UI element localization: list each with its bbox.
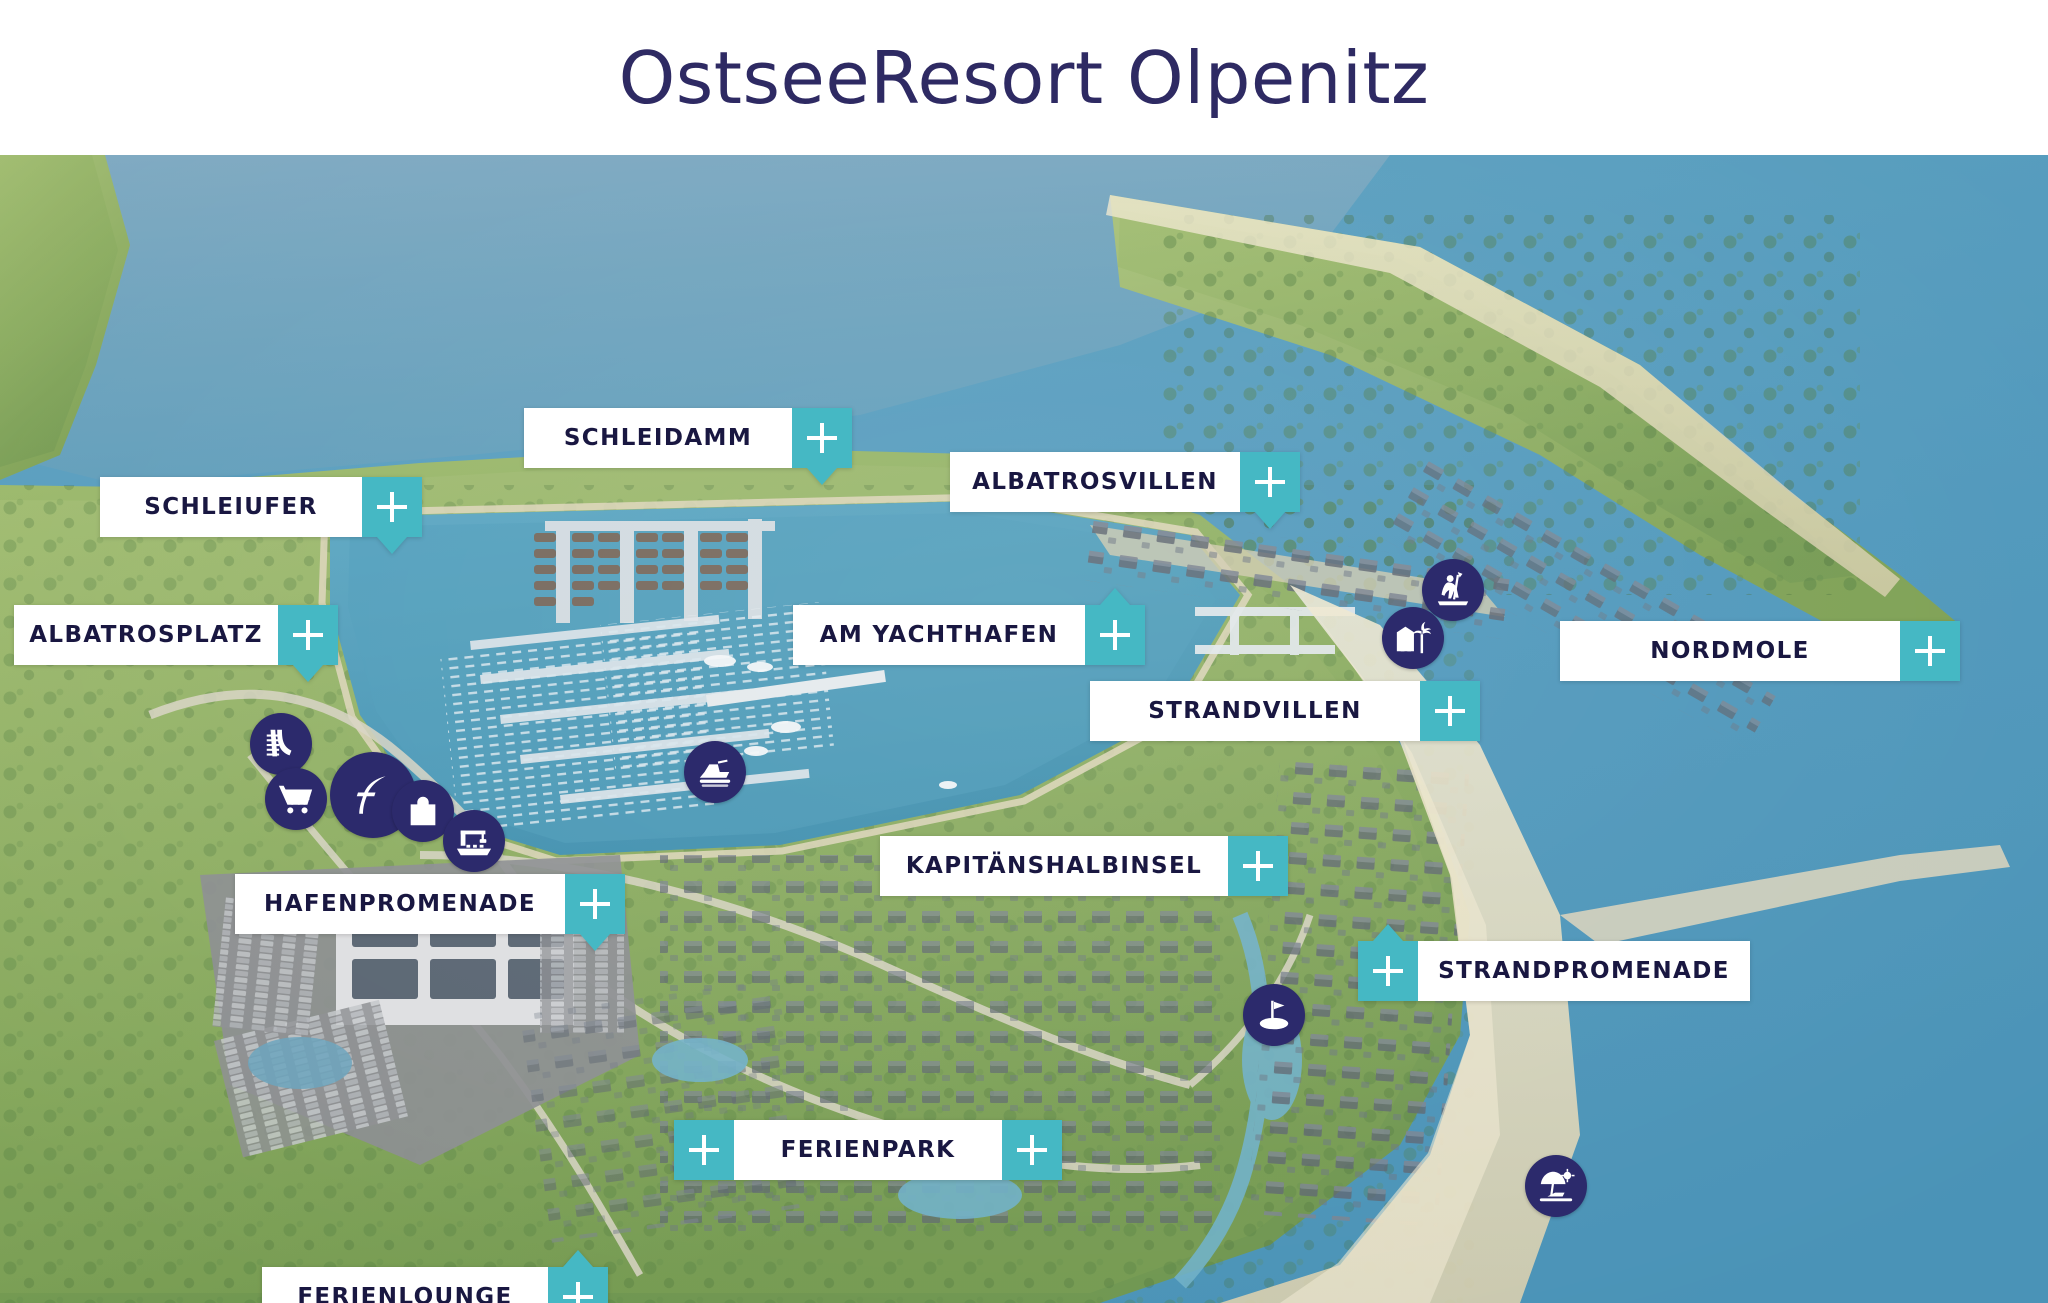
plus-icon	[293, 620, 323, 650]
plus-icon	[1255, 467, 1285, 497]
water-slide-icon	[262, 725, 300, 763]
map-label-plus-button[interactable]	[1240, 452, 1300, 512]
map-label-box: STRANDPROMENADE	[1418, 941, 1750, 1001]
title-bar: OstseeResort Olpenitz	[0, 0, 2048, 155]
map-label-plus-button[interactable]	[565, 874, 625, 934]
poi-marker-motorboat[interactable]	[684, 741, 746, 803]
map-label-albatrosvillen[interactable]: ALBATROSVILLEN	[950, 452, 1300, 512]
map-label-plus-button[interactable]	[1420, 681, 1480, 741]
poi-marker-harbour[interactable]	[443, 810, 505, 872]
map-label-schleidamm[interactable]: SCHLEIDAMM	[524, 408, 852, 468]
map-label-text: STRANDPROMENADE	[1438, 958, 1730, 984]
shopping-cart-icon	[277, 780, 315, 818]
map-label-text: HAFENPROMENADE	[264, 891, 536, 917]
map-label-text: FERIENLOUNGE	[297, 1284, 512, 1303]
map-label-schleiufer[interactable]: SCHLEIUFER	[100, 477, 422, 537]
map-label-text: ALBATROSPLATZ	[29, 622, 263, 648]
map-label-box: FERIENLOUNGE	[262, 1267, 548, 1303]
map-label-box: HAFENPROMENADE	[235, 874, 565, 934]
map-label-plus-button[interactable]	[362, 477, 422, 537]
map-label-box: ALBATROSVILLEN	[950, 452, 1240, 512]
plus-icon	[1373, 956, 1403, 986]
map-label-plus-button[interactable]	[1900, 621, 1960, 681]
plus-icon	[689, 1135, 719, 1165]
poi-marker-shopping-cart[interactable]	[265, 768, 327, 830]
map-label-plus-button[interactable]	[1085, 605, 1145, 665]
plus-icon	[1100, 620, 1130, 650]
shopping-bag-icon	[404, 792, 442, 830]
harbour-crane-icon	[455, 822, 493, 860]
page-root: OstseeResort Olpenitz	[0, 0, 2048, 1303]
poi-marker-golf[interactable]	[1243, 984, 1305, 1046]
map-label-plus-button[interactable]	[792, 408, 852, 468]
map-label-text: KAPITÄNSHALBINSEL	[906, 853, 1202, 879]
plus-icon	[377, 492, 407, 522]
beach-umbrella-icon	[1537, 1167, 1575, 1205]
map-label-text: SCHLEIDAMM	[564, 425, 752, 451]
map-label-text: NORDMOLE	[1650, 638, 1810, 664]
map-label-text: SCHLEIUFER	[144, 494, 317, 520]
map-label-plus-button-left[interactable]	[674, 1120, 734, 1180]
resort-building-icon	[1394, 619, 1432, 657]
map-label-plus-button[interactable]	[1228, 836, 1288, 896]
map-label-ferienpark[interactable]: FERIENPARK	[674, 1120, 1062, 1180]
map-label-box: ALBATROSPLATZ	[14, 605, 278, 665]
map-label-plus-button-right[interactable]	[1002, 1120, 1062, 1180]
resort-map[interactable]: SCHLEIDAMM SCHLEIUFER ALBATROSVILLEN	[0, 155, 2048, 1303]
map-label-kapitaenshalbinsel[interactable]: KAPITÄNSHALBINSEL	[880, 836, 1288, 896]
map-label-box: KAPITÄNSHALBINSEL	[880, 836, 1228, 896]
plus-icon	[1435, 696, 1465, 726]
map-label-plus-button[interactable]	[548, 1267, 608, 1303]
poi-marker-water-slide[interactable]	[250, 713, 312, 775]
poi-marker-beach[interactable]	[1525, 1155, 1587, 1217]
map-label-box: FERIENPARK	[734, 1120, 1002, 1180]
paddleboard-icon	[1434, 571, 1472, 609]
plus-icon	[580, 889, 610, 919]
plus-icon	[1017, 1135, 1047, 1165]
plus-icon	[1915, 636, 1945, 666]
poi-marker-resort-building[interactable]	[1382, 607, 1444, 669]
poi-marker-paddleboard[interactable]	[1422, 559, 1484, 621]
map-label-strandvillen[interactable]: STRANDVILLEN	[1090, 681, 1480, 741]
map-label-text: FERIENPARK	[781, 1137, 956, 1163]
map-label-ferienlounge[interactable]: FERIENLOUNGE	[262, 1267, 608, 1303]
plus-icon	[1243, 851, 1273, 881]
map-label-text: AM YACHTHAFEN	[820, 622, 1059, 648]
map-label-box: NORDMOLE	[1560, 621, 1900, 681]
map-label-nordmole[interactable]: NORDMOLE	[1560, 621, 1960, 681]
plus-icon	[563, 1282, 593, 1303]
map-label-plus-button[interactable]	[1358, 941, 1418, 1001]
map-label-hafenpromenade[interactable]: HAFENPROMENADE	[235, 874, 625, 934]
map-label-text: ALBATROSVILLEN	[972, 469, 1218, 495]
map-label-albatrosplatz[interactable]: ALBATROSPLATZ	[14, 605, 338, 665]
map-label-plus-button[interactable]	[278, 605, 338, 665]
motorboat-icon	[696, 753, 734, 791]
map-label-box: AM YACHTHAFEN	[793, 605, 1085, 665]
golf-flag-icon	[1255, 996, 1293, 1034]
brand-f-logo-icon	[348, 770, 398, 820]
map-label-box: SCHLEIDAMM	[524, 408, 792, 468]
map-label-box: SCHLEIUFER	[100, 477, 362, 537]
page-title: OstseeResort Olpenitz	[619, 42, 1430, 114]
map-label-strandpromenade[interactable]: STRANDPROMENADE	[1358, 941, 1750, 1001]
map-label-box: STRANDVILLEN	[1090, 681, 1420, 741]
plus-icon	[807, 423, 837, 453]
map-label-am-yachthafen[interactable]: AM YACHTHAFEN	[793, 605, 1145, 665]
map-label-text: STRANDVILLEN	[1148, 698, 1362, 724]
